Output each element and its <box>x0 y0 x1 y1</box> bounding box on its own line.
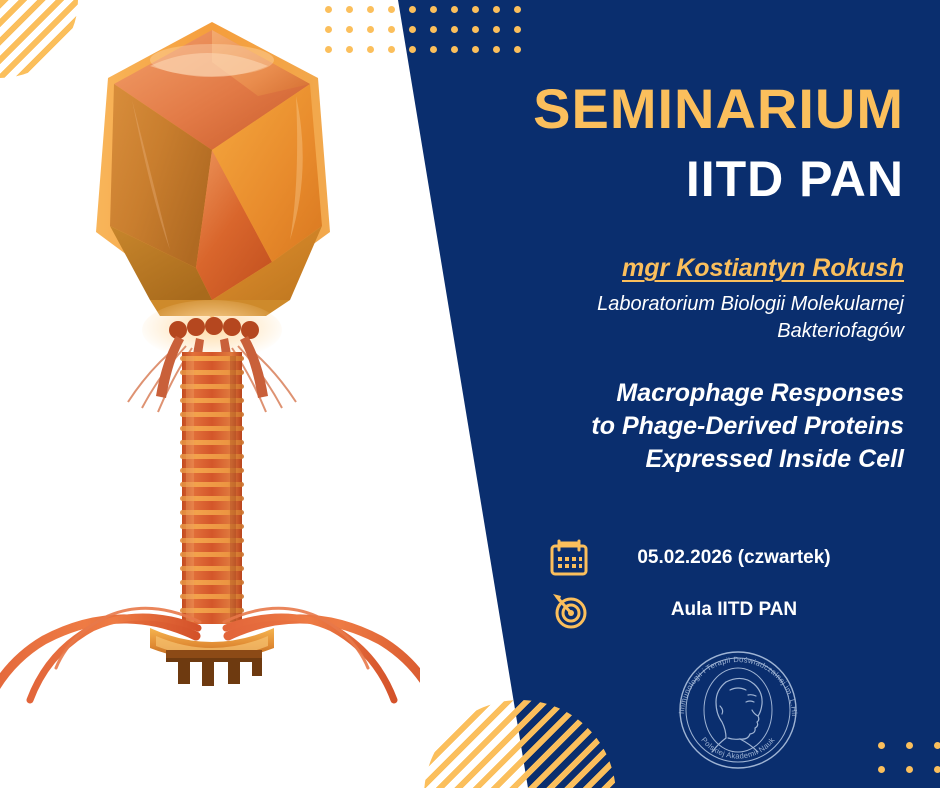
page-title: SEMINARIUM <box>434 80 904 139</box>
talk-title-line-3: Expressed Inside Cell <box>434 443 904 476</box>
dot <box>878 766 885 773</box>
bacteriophage-illustration <box>0 0 420 788</box>
dot <box>388 26 395 33</box>
affiliation-line-1: Laboratorium Biologii Molekularnej <box>434 291 904 318</box>
dot <box>346 46 353 53</box>
affiliation-line-2: Bakteriofagów <box>434 318 904 345</box>
dot <box>409 46 416 53</box>
dot <box>346 26 353 33</box>
calendar-icon <box>548 537 590 579</box>
dot <box>325 6 332 13</box>
target-icon <box>548 589 590 631</box>
institute-seal-logo: Instytut Immunologii i Terapii Doświadcz… <box>668 640 808 780</box>
dot <box>906 742 913 749</box>
event-date-row: 05.02.2026 (czwartek) <box>548 532 908 584</box>
dot <box>388 6 395 13</box>
page-subtitle: IITD PAN <box>434 153 904 206</box>
dot <box>367 6 374 13</box>
poster-content: SEMINARIUM IITD PAN mgr Kostiantyn Rokus… <box>434 0 904 476</box>
dot <box>325 26 332 33</box>
dot <box>906 766 913 773</box>
talk-title-line-1: Macrophage Responses <box>434 377 904 410</box>
dot <box>409 26 416 33</box>
dot <box>367 46 374 53</box>
dot <box>367 26 374 33</box>
event-details: 05.02.2026 (czwartek) Aula IITD PAN <box>548 532 908 636</box>
dot <box>346 6 353 13</box>
event-date-label: 05.02.2026 (czwartek) <box>590 547 908 569</box>
dot <box>878 742 885 749</box>
seminar-poster: SEMINARIUM IITD PAN mgr Kostiantyn Rokus… <box>0 0 940 788</box>
speaker-affiliation: Laboratorium Biologii Molekularnej Bakte… <box>434 291 904 345</box>
talk-title-line-2: to Phage-Derived Proteins <box>434 410 904 443</box>
talk-title: Macrophage Responses to Phage-Derived Pr… <box>434 377 904 476</box>
event-venue-label: Aula IITD PAN <box>590 599 908 621</box>
dot <box>409 6 416 13</box>
dot <box>934 766 940 773</box>
event-venue-row: Aula IITD PAN <box>548 584 908 636</box>
dot <box>388 46 395 53</box>
speaker-name: mgr Kostiantyn Rokush <box>434 253 904 283</box>
dot <box>325 46 332 53</box>
dot-grid-bottom-right <box>878 742 940 788</box>
dot <box>934 742 940 749</box>
